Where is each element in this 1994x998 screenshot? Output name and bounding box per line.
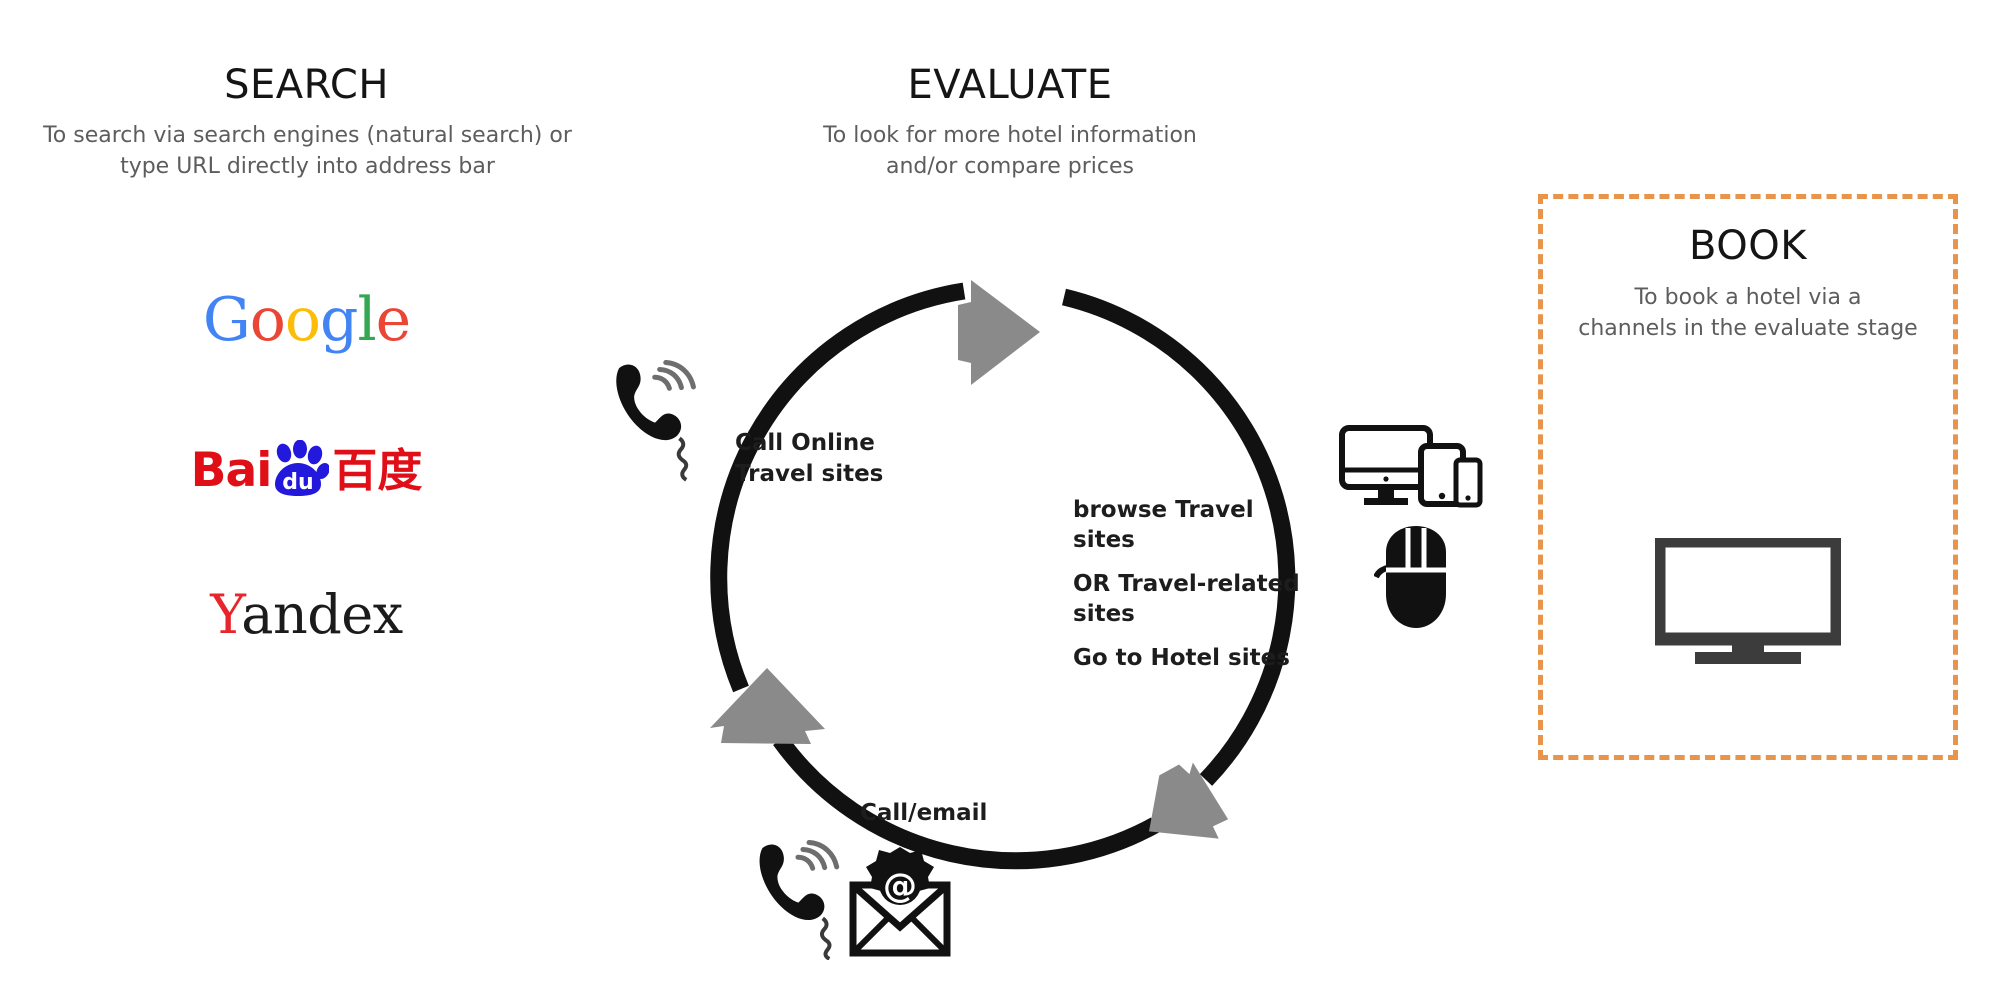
google-letter-l: l: [357, 285, 375, 355]
google-letter-g2: g: [320, 285, 357, 355]
call-online-line-1: Call Online: [735, 428, 965, 459]
cycle-label-call-online-travel-sites: Call Online Travel sites: [735, 428, 965, 490]
book-stage-container: [1538, 194, 1958, 760]
evaluate-subtitle-line-2: and/or compare prices: [705, 151, 1315, 182]
phone-icon: [612, 355, 707, 485]
book-subtitle-line-1: To book a hotel via a: [1548, 282, 1948, 313]
google-letter-o1: o: [250, 285, 285, 355]
google-logo-wordmark: Google: [203, 285, 410, 355]
google-letter-o2: o: [285, 285, 320, 355]
baidu-paw-icon: du: [267, 440, 329, 500]
svg-text:du: du: [283, 470, 314, 495]
baidu-hanzi-text: 百度: [332, 448, 422, 493]
search-stage-title: SEARCH: [0, 62, 613, 108]
yandex-logo-wordmark: Yandex: [210, 583, 402, 646]
search-subtitle-line-2: type URL directly into address bar: [10, 151, 605, 182]
devices-icon: [1338, 425, 1483, 515]
envelope-at-icon: @: [845, 845, 955, 960]
cycle-arrow-top: [958, 280, 1040, 385]
yandex-logo[interactable]: Yandex: [0, 588, 613, 642]
search-subtitle-line-1: To search via search engines (natural se…: [10, 120, 605, 151]
baidu-logo-wordmark: Bai du 百度: [191, 440, 423, 500]
google-logo[interactable]: Google: [0, 290, 613, 350]
yandex-letter-y: Y: [210, 583, 241, 646]
evaluate-stage-title: EVALUATE: [675, 62, 1345, 108]
cycle-arc-upper-left: [719, 291, 964, 689]
search-stage-subtitle: To search via search engines (natural se…: [10, 120, 605, 182]
browse-action-item-1: browse Travel sites: [1073, 495, 1323, 555]
diagram-canvas: SEARCH To search via search engines (nat…: [0, 0, 1994, 998]
svg-text:@: @: [883, 866, 917, 906]
baidu-latin-text: Bai: [191, 447, 272, 494]
browse-action-item-3: Go to Hotel sites: [1073, 643, 1323, 673]
browse-action-item-2: OR Travel-related sites: [1073, 569, 1323, 629]
google-letter-g1: G: [203, 285, 250, 355]
call-online-line-2: Travel sites: [735, 459, 965, 490]
book-stage-subtitle: To book a hotel via a channels in the ev…: [1548, 282, 1948, 344]
cycle-label-browse-actions: browse Travel sites OR Travel-related si…: [1073, 495, 1323, 687]
book-stage-title: BOOK: [1538, 223, 1958, 269]
evaluate-subtitle-line-1: To look for more hotel information: [705, 120, 1315, 151]
phone-icon: [755, 835, 850, 960]
evaluate-stage-subtitle: To look for more hotel information and/o…: [705, 120, 1315, 182]
cycle-label-call-email: Call/email: [860, 798, 1080, 829]
yandex-letters-rest: andex: [241, 583, 402, 646]
cycle-arrow-left: [710, 668, 825, 744]
mouse-icon: [1374, 522, 1459, 642]
google-letter-e: e: [376, 285, 411, 355]
book-subtitle-line-2: channels in the evaluate stage: [1548, 313, 1948, 344]
monitor-icon: [1655, 538, 1841, 664]
baidu-logo[interactable]: Bai du 百度: [0, 440, 613, 500]
